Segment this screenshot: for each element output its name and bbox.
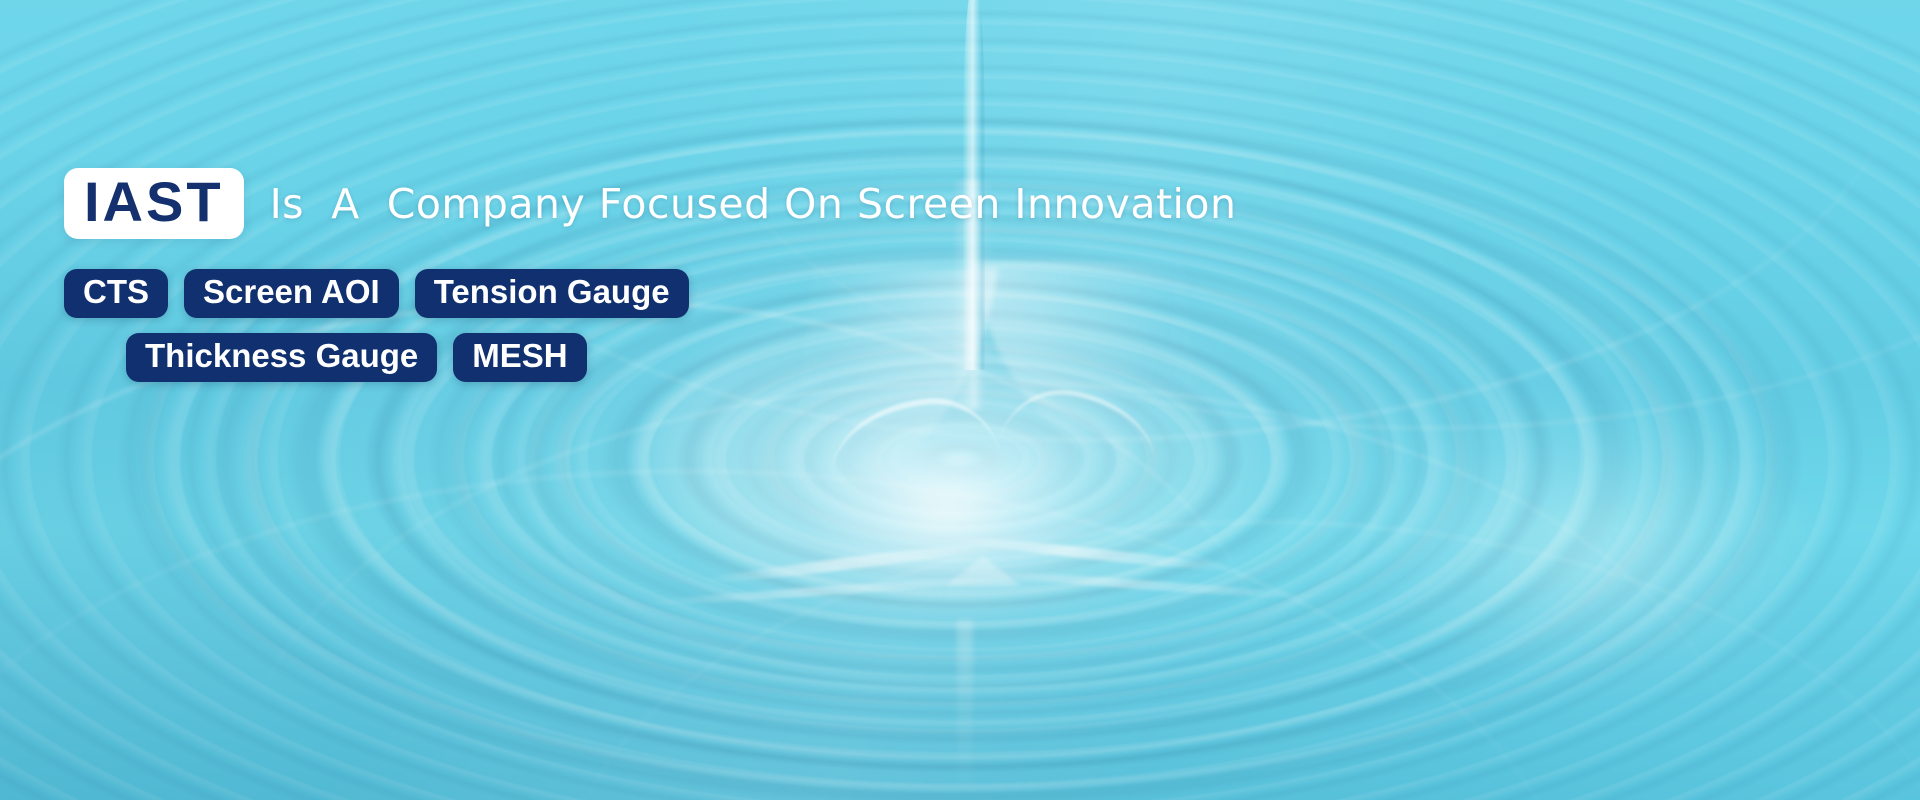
hero-banner: IAST Is A Company Focused On Screen Inno… (0, 0, 1920, 800)
tag-pill-row-1: CTS Screen AOI Tension Gauge (64, 269, 1264, 318)
tag-pill-tension-gauge[interactable]: Tension Gauge (415, 269, 689, 318)
iast-logo-text: IAST (84, 174, 224, 230)
tag-pill-group: CTS Screen AOI Tension Gauge Thickness G… (64, 269, 1264, 382)
tag-pill-thickness-gauge[interactable]: Thickness Gauge (126, 333, 437, 382)
tag-pill-screen-aoi[interactable]: Screen AOI (184, 269, 399, 318)
banner-content: IAST Is A Company Focused On Screen Inno… (64, 168, 1264, 382)
tag-pill-mesh[interactable]: MESH (453, 333, 586, 382)
banner-headline: Is A Company Focused On Screen Innovatio… (270, 180, 1237, 228)
tag-pill-row-2: Thickness Gauge MESH (64, 333, 1264, 382)
headline-row: IAST Is A Company Focused On Screen Inno… (64, 168, 1264, 239)
iast-logo-badge: IAST (64, 168, 244, 239)
tag-pill-cts[interactable]: CTS (64, 269, 168, 318)
right-side-glow (1380, 420, 1800, 680)
